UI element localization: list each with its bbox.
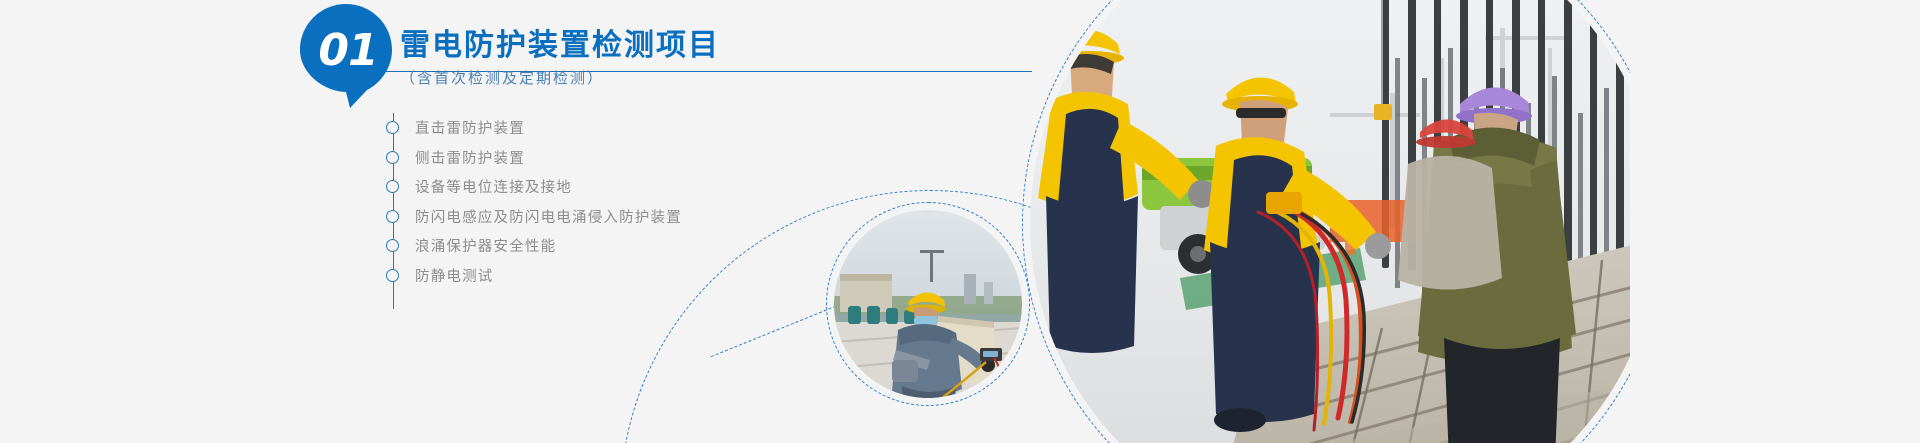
dashed-ring-outer-left xyxy=(620,190,1240,443)
list-item-label: 浪涌保护器安全性能 xyxy=(415,235,556,256)
bullet-dot-icon xyxy=(386,151,399,164)
list-item[interactable]: 设备等电位连接及接地 xyxy=(386,172,682,202)
dashed-ring-inset xyxy=(826,202,1030,406)
bullet-dot-icon xyxy=(386,210,399,223)
bullet-dot-icon xyxy=(386,239,399,252)
list-item-label: 设备等电位连接及接地 xyxy=(415,176,572,197)
page-subtitle: （含首次检测及定期检测） xyxy=(400,67,604,88)
list-item[interactable]: 防静电测试 xyxy=(386,261,682,291)
list-item-label: 防静电测试 xyxy=(415,265,494,286)
inspection-items-list: 直击雷防护装置 侧击雷防护装置 设备等电位连接及接地 防闪电感应及防闪电电涌侵入… xyxy=(386,113,682,290)
list-item[interactable]: 浪涌保护器安全性能 xyxy=(386,231,682,261)
page-title: 雷电防护装置检测项目 xyxy=(400,20,720,64)
list-item-label: 防闪电感应及防闪电电涌侵入防护装置 xyxy=(415,206,682,227)
dashed-ring-secondary xyxy=(1146,2,1706,443)
dashed-connector-line xyxy=(711,300,850,357)
list-item[interactable]: 防闪电感应及防闪电电涌侵入防护装置 xyxy=(386,202,682,232)
badge-number-text: 01 xyxy=(300,4,392,96)
lightning-protection-banner: 01 雷电防护装置检测项目 （含首次检测及定期检测） 直击雷防护装置 侧击雷防护… xyxy=(0,0,1920,443)
bullet-dot-icon xyxy=(386,269,399,282)
section-number-badge: 01 xyxy=(300,4,392,108)
list-item[interactable]: 直击雷防护装置 xyxy=(386,113,682,143)
bullet-dot-icon xyxy=(386,121,399,134)
banner-artwork xyxy=(0,0,1920,443)
right-fade-mask xyxy=(1630,0,1920,443)
list-item-label: 直击雷防护装置 xyxy=(415,117,525,138)
list-item-label: 侧击雷防护装置 xyxy=(415,147,525,168)
bullet-dot-icon xyxy=(386,180,399,193)
inset-photo xyxy=(834,210,1022,398)
main-photo xyxy=(1030,0,1660,443)
dashed-ring-main xyxy=(1022,0,1668,443)
list-item[interactable]: 侧击雷防护装置 xyxy=(386,143,682,173)
